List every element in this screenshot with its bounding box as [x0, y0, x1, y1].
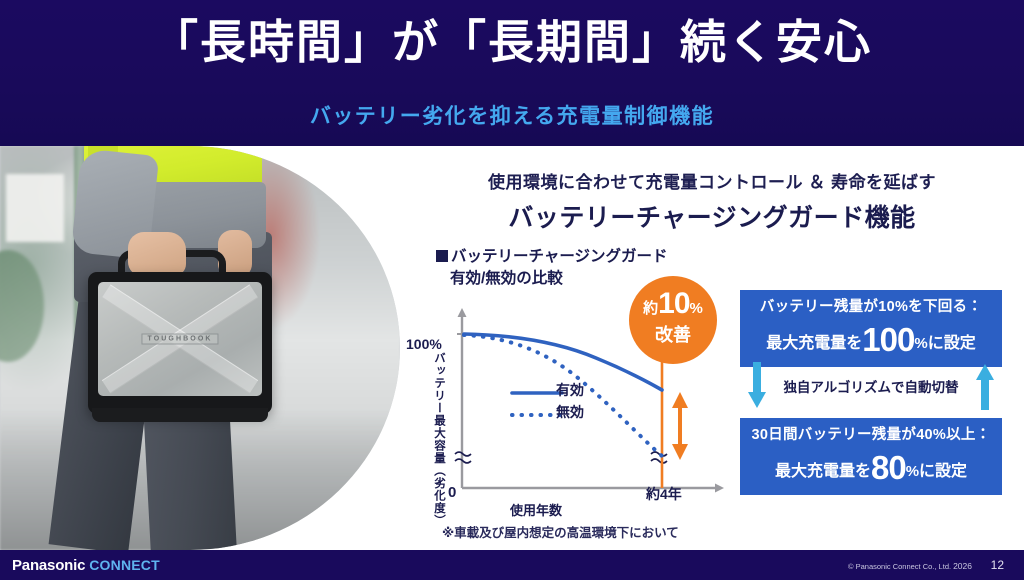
copyright-year: 2026 [953, 561, 972, 571]
section-title: バッテリーチャージングガード機能 [400, 198, 1024, 234]
rule-action-80: 最大充電量を80%に設定 [740, 451, 1002, 484]
improvement-double-arrow [672, 392, 688, 460]
badge-caption: 改善 [629, 326, 717, 344]
worker-hand-left [128, 232, 186, 276]
hero-photo: TOUGHBOOK [0, 146, 400, 550]
copyright-text: © Panasonic Connect Co., Ltd.2026 [848, 561, 972, 571]
bullet-square-icon [436, 250, 448, 262]
auto-switch-row: 独自アルゴリズムで自動切替 [740, 362, 1002, 412]
panasonic-connect-logo: PanasonicCONNECT [12, 557, 160, 575]
laptop-lid: TOUGHBOOK [98, 282, 262, 396]
chart-y-axis-arrow [458, 308, 467, 317]
rule-panel-100: バッテリー残量が10%を下回る： 最大充電量を100%に設定 [740, 290, 1002, 367]
badge-percent: % [690, 300, 703, 317]
chart-heading-line2: 有効/無効の比較 [436, 268, 668, 290]
x-axis-break-icon [651, 452, 667, 463]
rule-action-percent-100: % [914, 335, 927, 352]
page-title: 「長時間」が「長期間」続く安心 [0, 16, 1024, 69]
chart-footnote: ※車載及び屋内想定の高温環境下において [442, 522, 679, 541]
legend-label-disabled: 無効 [556, 402, 584, 422]
page-subtitle: バッテリー劣化を抑える充電量制御機能 [0, 100, 1024, 130]
laptop-base-edge [92, 408, 268, 422]
rule-action-prefix-100: 最大充電量を [766, 335, 862, 352]
logo-panasonic: Panasonic [12, 557, 85, 574]
arrow-up-icon [974, 362, 996, 410]
auto-switch-label: 独自アルゴリズムで自動切替 [740, 376, 1002, 396]
toughbook-logo: TOUGHBOOK [141, 334, 218, 345]
slide-header: 「長時間」が「長期間」続く安心 バッテリー劣化を抑える充電量制御機能 [0, 0, 1024, 146]
slide-footer: PanasonicCONNECT © Panasonic Connect Co.… [0, 550, 1024, 580]
copyright-body: © Panasonic Connect Co., Ltd. [848, 562, 951, 571]
chart-y-axis-label: バッテリー最大容量（劣化度） [424, 352, 444, 527]
content-area: 使用環境に合わせて充電量コントロール ＆ 寿命を延ばす バッテリーチャージングガ… [400, 146, 1024, 550]
badge-value: 10 [658, 287, 689, 320]
chart-heading: バッテリーチャージングガード 有効/無効の比較 [436, 246, 668, 291]
chart-x-tick-label-0: 0 [448, 484, 456, 501]
rule-action-percent-80: % [906, 463, 919, 480]
rule-action-suffix-80: に設定 [919, 463, 967, 480]
rule-action-value-80: 80 [871, 449, 906, 486]
improvement-badge: 約10% 改善 [629, 276, 717, 364]
slide: 「長時間」が「長期間」続く安心 バッテリー劣化を抑える充電量制御機能 [0, 0, 1024, 580]
chart-x-axis-label: 使用年数 [510, 500, 562, 519]
rule-action-value-100: 100 [862, 321, 914, 358]
chart-x-tick-label-4y: 約4年 [646, 484, 682, 504]
badge-value-row: 約10% [629, 289, 717, 319]
legend-label-enabled: 有効 [556, 380, 584, 400]
rule-condition-100: バッテリー残量が10%を下回る： [740, 299, 1002, 316]
photo-wall-panel [6, 174, 64, 242]
logo-connect: CONNECT [89, 557, 160, 573]
rule-action-suffix-100: に設定 [928, 335, 976, 352]
chart-heading-line1: バッテリーチャージングガード [451, 248, 668, 265]
chart-x-axis-arrow [715, 484, 724, 493]
chart-y-tick-label-100: 100% [406, 336, 442, 352]
section-subtitle: 使用環境に合わせて充電量コントロール ＆ 寿命を延ばす [400, 168, 1024, 193]
rule-action-100: 最大充電量を100%に設定 [740, 323, 1002, 356]
badge-prefix: 約 [643, 300, 658, 317]
rule-panel-80: 30日間バッテリー残量が40%以上： 最大充電量を80%に設定 [740, 418, 1002, 495]
rule-condition-80: 30日間バッテリー残量が40%以上： [740, 427, 1002, 444]
hero-photo-container: TOUGHBOOK [0, 146, 400, 550]
page-number: 12 [991, 558, 1004, 572]
rule-action-prefix-80: 最大充電量を [775, 463, 871, 480]
